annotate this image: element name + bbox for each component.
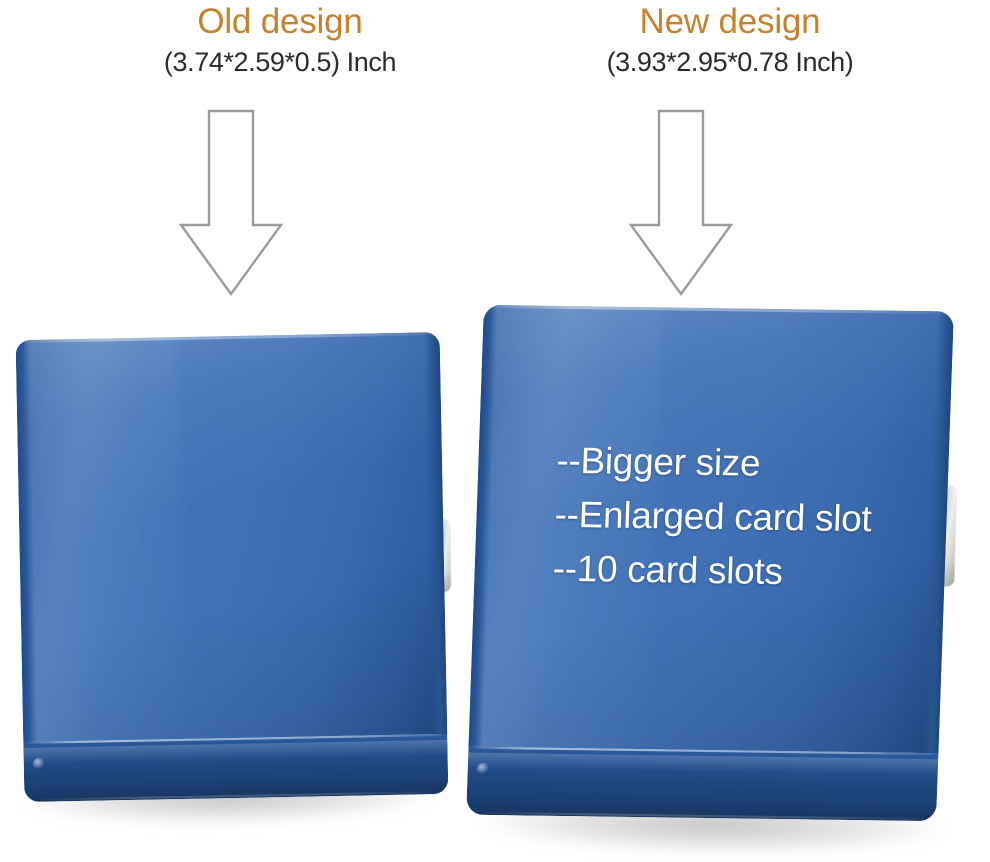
case-body: --Bigger size --Enlarged card slot --10 … <box>466 305 954 821</box>
lid-top-edge-highlight <box>492 305 946 314</box>
hinge-dimple-icon <box>476 763 489 776</box>
feature-list: --Bigger size --Enlarged card slot --10 … <box>552 434 938 601</box>
feature-item: --10 card slots <box>552 542 934 601</box>
panel-title-new: New design <box>470 2 990 42</box>
lid-sheen <box>16 332 448 742</box>
product-image-old-case <box>8 320 458 820</box>
lid-left-facet <box>16 340 38 742</box>
feature-item: --Bigger size <box>556 434 938 493</box>
panel-subtitle-old: (3.74*2.59*0.5) Inch <box>20 45 540 79</box>
arrow-down-outline-svg <box>628 108 734 298</box>
lid-gloss-highlight <box>16 332 186 799</box>
arrow-down-outline-icon <box>178 108 284 298</box>
case-lid-face <box>16 332 448 742</box>
panel-header-new: New design (3.93*2.95*0.78 Inch) <box>470 2 990 79</box>
hinge-dimple-icon <box>33 758 46 771</box>
product-image-new-case: --Bigger size --Enlarged card slot --10 … <box>455 296 975 836</box>
lid-top-edge-highlight <box>24 332 432 343</box>
arrow-down-outline-svg <box>178 108 284 298</box>
case-side-wall <box>23 734 448 802</box>
wall-gloss <box>23 740 447 764</box>
panel-subtitle-new: (3.93*2.95*0.78 Inch) <box>470 45 990 79</box>
panel-header-old: Old design (3.74*2.59*0.5) Inch <box>20 2 540 79</box>
case-lid-face: --Bigger size --Enlarged card slot --10 … <box>468 305 953 753</box>
wall-gloss <box>468 753 939 776</box>
lid-left-facet <box>468 305 497 747</box>
arrow-down-outline-icon <box>628 108 734 298</box>
panel-title-old: Old design <box>20 2 540 42</box>
case-side-wall <box>466 747 938 822</box>
case-body <box>16 332 449 802</box>
feature-item: --Enlarged card slot <box>554 488 936 547</box>
comparison-graphic: Old design (3.74*2.59*0.5) Inch New desi… <box>0 0 990 862</box>
